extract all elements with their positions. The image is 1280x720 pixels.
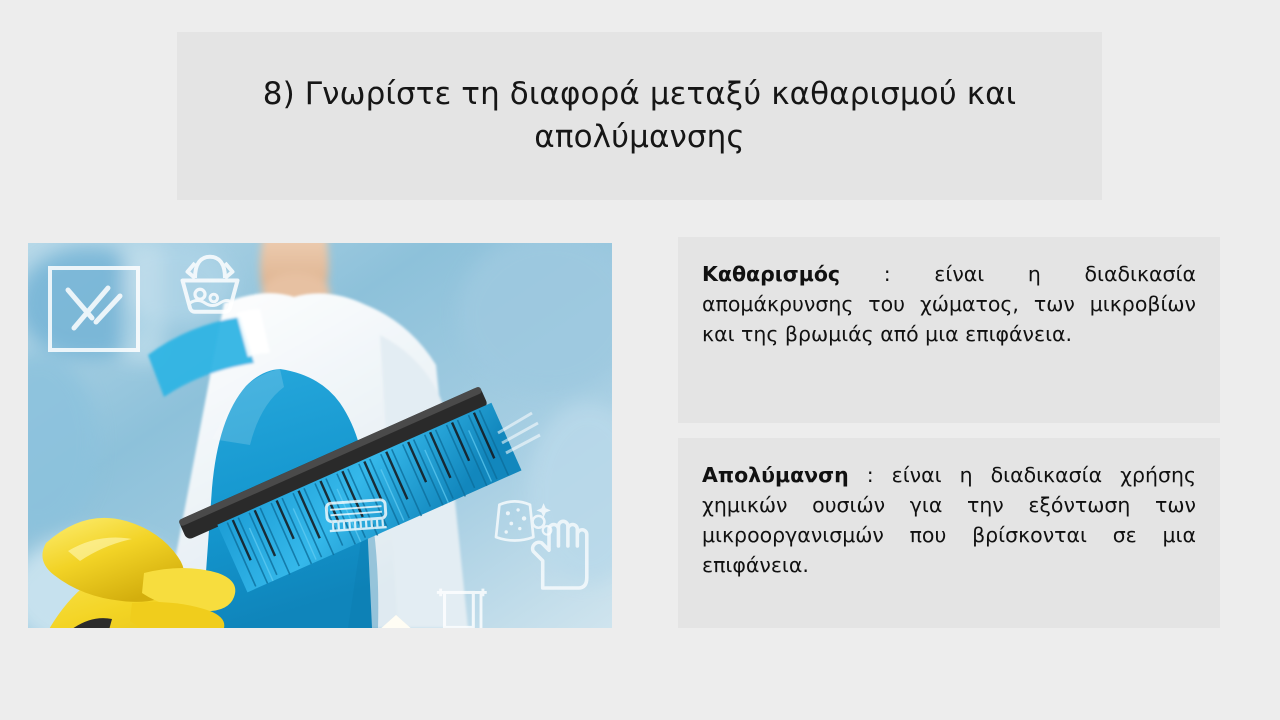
term-disinfection: Απολύμανση (702, 463, 849, 487)
term-separator-cleaning: : (840, 262, 934, 286)
definition-text-disinfection: Απολύμανση : είναι η διαδικασία χρήσης χ… (702, 460, 1196, 581)
cleaning-photo (28, 243, 612, 628)
definition-text-cleaning: Καθαρισμός : είναι η διαδικασία απομάκρυ… (702, 259, 1196, 349)
page-title: 8) Γνωρίστε τη διαφορά μεταξύ καθαρισμού… (250, 73, 1030, 159)
definition-panel-cleaning: Καθαρισμός : είναι η διαδικασία απομάκρυ… (678, 237, 1220, 423)
cleaning-photo-graphic (28, 243, 612, 628)
slide-root: { "slide": { "title": "8) Γνωρίστε τη δι… (0, 0, 1280, 720)
definition-panel-disinfection: Απολύμανση : είναι η διαδικασία χρήσης χ… (678, 438, 1220, 628)
term-separator-disinfection: : (849, 463, 892, 487)
title-panel: 8) Γνωρίστε τη διαφορά μεταξύ καθαρισμού… (177, 32, 1102, 200)
term-cleaning: Καθαρισμός (702, 262, 840, 286)
